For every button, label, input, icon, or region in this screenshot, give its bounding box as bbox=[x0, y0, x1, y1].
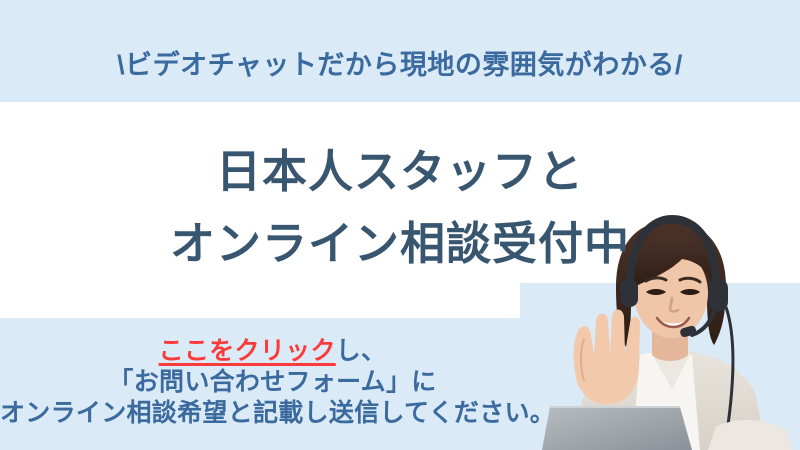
eyebrow-text: \ビデオチャットだから現地の雰囲気がわかる/ bbox=[0, 49, 800, 81]
headline-line-2: オンライン相談受付中 bbox=[0, 208, 800, 280]
instruction-line-1: ここをクリックし、 bbox=[0, 336, 545, 367]
instruction-line-3: オンライン相談希望と記載し送信してください。 bbox=[0, 398, 545, 429]
headline: 日本人スタッフと オンライン相談受付中 bbox=[0, 136, 800, 280]
headset-earcup-left bbox=[620, 279, 638, 307]
headline-line-1: 日本人スタッフと bbox=[0, 136, 800, 208]
instruction-line-2: 「お問い合わせフォーム」に bbox=[0, 367, 545, 398]
promo-banner: \ビデオチャットだから現地の雰囲気がわかる/ 日本人スタッフと オンライン相談受… bbox=[0, 0, 800, 450]
here-click-link[interactable]: ここをクリック bbox=[159, 337, 336, 365]
instruction-line-1-tail: し、 bbox=[336, 337, 387, 365]
instruction-text: ここをクリックし、 「お問い合わせフォーム」に オンライン相談希望と記載し送信し… bbox=[0, 336, 545, 429]
laptop-lid bbox=[542, 407, 692, 450]
headset-earcup-right bbox=[708, 279, 728, 311]
